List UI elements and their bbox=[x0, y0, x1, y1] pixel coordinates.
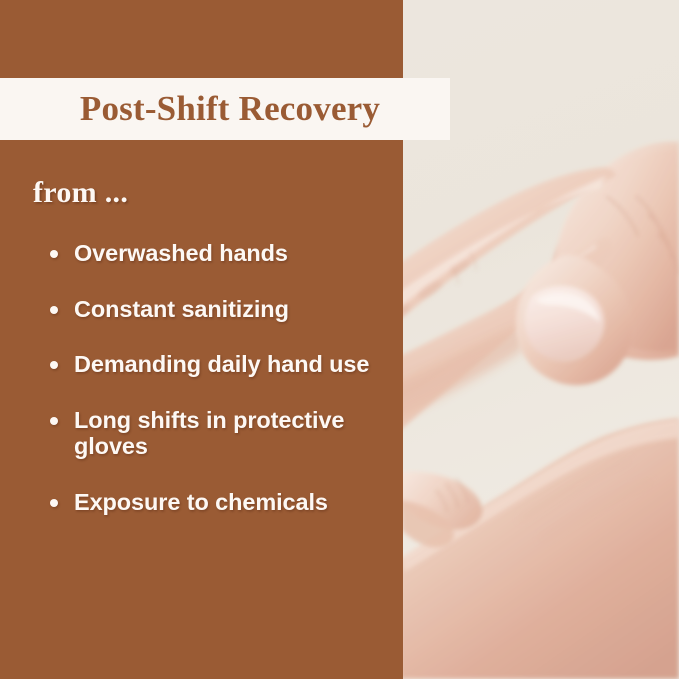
list-item-label: Demanding daily hand use bbox=[74, 351, 374, 378]
list-item: Demanding daily hand use bbox=[44, 351, 374, 378]
bullet-dot-icon bbox=[50, 417, 58, 425]
list-item-label: Constant sanitizing bbox=[74, 296, 374, 323]
list-item: Constant sanitizing bbox=[44, 296, 374, 323]
intro-label: from ... bbox=[33, 176, 128, 210]
product-info-graphic: Post-Shift Recovery from ... Overwashed … bbox=[0, 0, 679, 679]
list-item: Overwashed hands bbox=[44, 240, 374, 267]
bullet-dot-icon bbox=[50, 499, 58, 507]
title-banner: Post-Shift Recovery bbox=[0, 78, 450, 140]
list-item-label: Exposure to chemicals bbox=[74, 489, 374, 516]
list-item: Long shifts in protective gloves bbox=[44, 407, 374, 460]
page-title: Post-Shift Recovery bbox=[70, 89, 380, 129]
bullet-dot-icon bbox=[50, 250, 58, 258]
bullet-dot-icon bbox=[50, 306, 58, 314]
list-item: Exposure to chemicals bbox=[44, 489, 374, 516]
list-item-label: Overwashed hands bbox=[74, 240, 374, 267]
bullet-dot-icon bbox=[50, 361, 58, 369]
list-item-label: Long shifts in protective gloves bbox=[74, 407, 374, 460]
benefits-bullet-list: Overwashed hands Constant sanitizing Dem… bbox=[44, 240, 374, 515]
